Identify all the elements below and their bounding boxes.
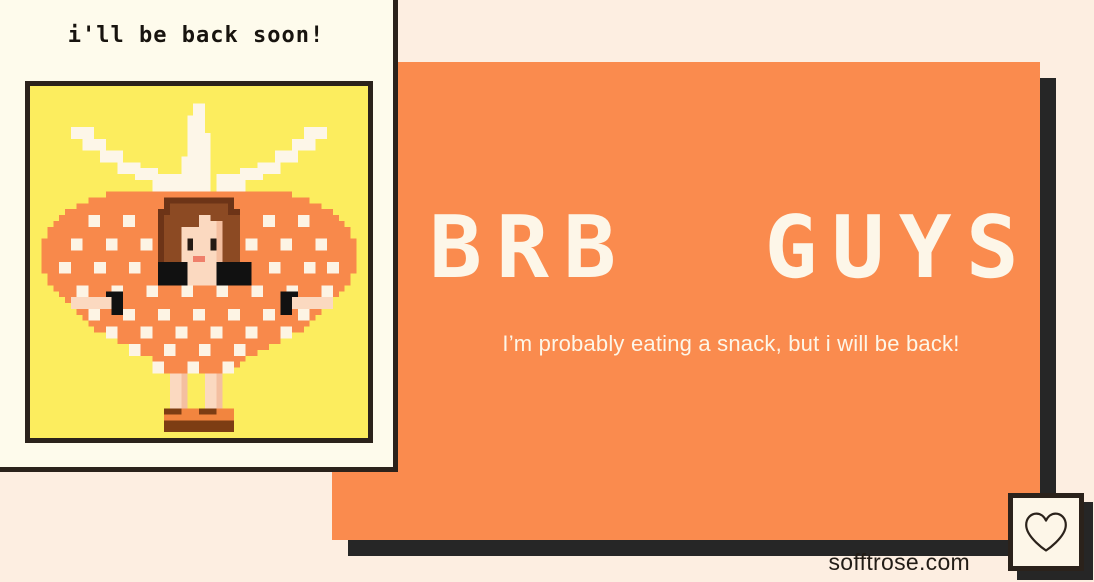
illustration-card: i'll be back soon!: [0, 0, 398, 472]
card-caption: i'll be back soon!: [0, 23, 393, 48]
strawberry-character-illustration: [30, 86, 368, 438]
heart-badge[interactable]: [1008, 493, 1084, 571]
illustration-frame: [25, 81, 373, 443]
page-title: BRB GUYS: [429, 205, 1033, 291]
site-watermark: sofftrose.com: [828, 549, 970, 576]
heart-outline-icon: [1023, 511, 1069, 553]
orange-card-content: BRB GUYS I’m probably eating a snack, bu…: [332, 62, 1040, 540]
page-subtitle: I’m probably eating a snack, but i will …: [502, 331, 959, 357]
orange-card: BRB GUYS I’m probably eating a snack, bu…: [332, 62, 1040, 540]
poster-canvas: BRB GUYS I’m probably eating a snack, bu…: [0, 0, 1094, 582]
